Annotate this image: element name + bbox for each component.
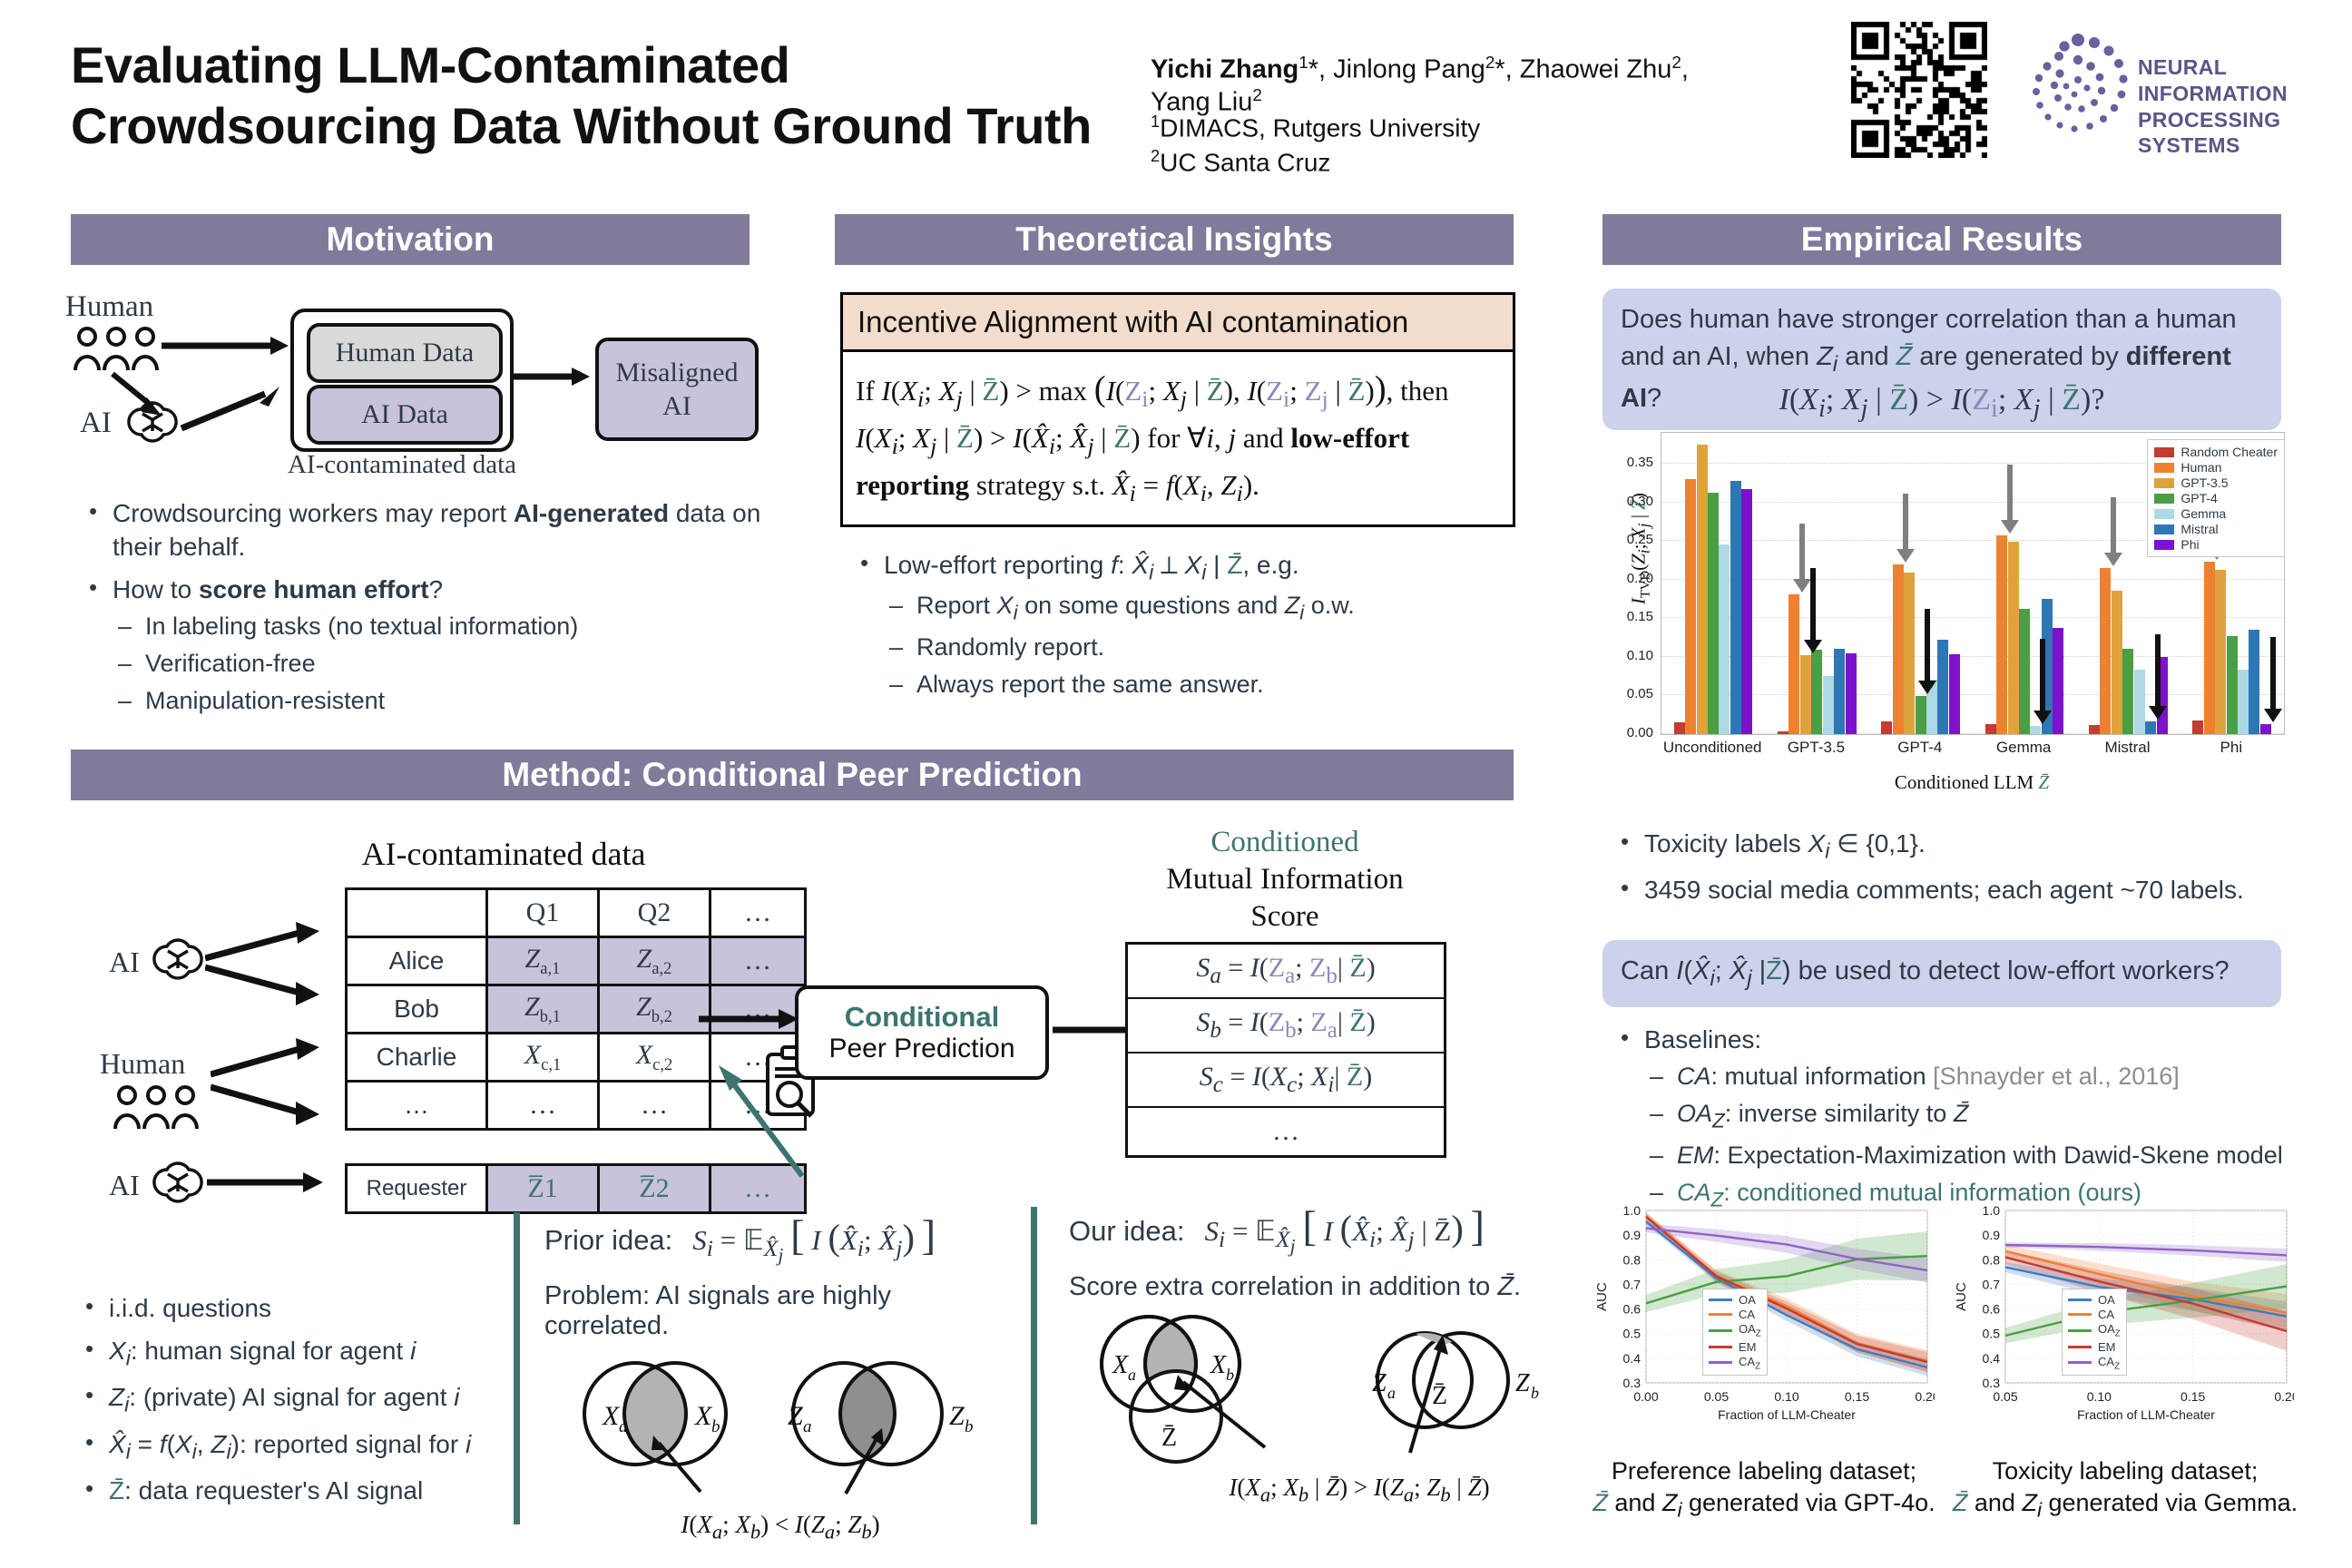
legend-item: EM bbox=[1709, 1340, 1761, 1354]
table-row-name: Alice bbox=[347, 937, 487, 985]
x-tick-label: GPT-3.5 bbox=[1764, 739, 1867, 757]
svg-text:X: X bbox=[1210, 1351, 1227, 1379]
arrow-human-to-data bbox=[162, 336, 289, 356]
ai-source-label: AI bbox=[80, 407, 112, 440]
table-cell: Xc,1 bbox=[487, 1034, 599, 1082]
low-effort-examples: Report Xi on some questions and Zi o.w.R… bbox=[884, 590, 1524, 701]
bar bbox=[1904, 573, 1915, 734]
y-tick-label: 0.8 bbox=[1623, 1252, 1641, 1267]
bar bbox=[1697, 445, 1708, 734]
legend-swatch bbox=[2068, 1361, 2092, 1364]
gray-down-arrow-icon bbox=[2000, 465, 2020, 534]
table-cell: Zb,2 bbox=[599, 985, 710, 1034]
prior-idea-relation: I(Xa; Xb) < I(Za; Zb) bbox=[544, 1511, 1016, 1543]
bar bbox=[1788, 594, 1799, 734]
theorem-title: Incentive Alignment with AI contaminatio… bbox=[843, 295, 1513, 352]
table-row-name: Bob bbox=[347, 985, 487, 1034]
bar bbox=[2215, 570, 2226, 734]
y-tick-label: 0.5 bbox=[1623, 1327, 1641, 1341]
legend-swatch bbox=[2154, 463, 2174, 473]
bar bbox=[1685, 479, 1696, 734]
legend-label: Phi bbox=[2180, 537, 2199, 552]
legend-label: Mistral bbox=[2180, 522, 2218, 536]
score-title-line2: Mutual Information bbox=[1103, 861, 1466, 898]
bar bbox=[1823, 676, 1834, 734]
legend-label: EM bbox=[2098, 1340, 2116, 1354]
score-row: Sb = I(Zb; Za| Z̄) bbox=[1128, 999, 1444, 1053]
y-tick-label: 0.6 bbox=[1623, 1302, 1641, 1317]
legend-label: CA bbox=[1739, 1308, 1755, 1321]
legend-item: CA bbox=[2068, 1308, 2121, 1321]
score-row: Sc = I(Xc; Xi| Z̄) bbox=[1128, 1053, 1444, 1108]
empirical-bullets-1: Toxicity labels Xi ∈ {0,1}.3459 social m… bbox=[1613, 828, 2285, 916]
auc-chart-toxicity: 0.30.40.50.60.70.80.91.00.050.100.150.20… bbox=[1953, 1203, 2294, 1430]
legend-item: Random Cheater bbox=[2154, 445, 2278, 459]
y-tick-label: 0.6 bbox=[1983, 1302, 2001, 1317]
y-tick-label: 0.4 bbox=[1983, 1351, 2001, 1366]
legend-label: OAZ bbox=[1739, 1322, 1761, 1339]
legend-item: Mistral bbox=[2154, 522, 2278, 536]
bar bbox=[2112, 591, 2122, 734]
baselines-bullet: Baselines: CA: mutual information [Shnay… bbox=[1613, 1024, 2285, 1212]
conditional-peer-prediction-box: Conditional Peer Prediction bbox=[795, 985, 1049, 1080]
legend-swatch bbox=[2154, 478, 2174, 488]
legend-swatch bbox=[1709, 1329, 1732, 1332]
our-idea-block: Our idea: Si = 𝔼X̂j [ I (X̂i; X̂j | Z̄) … bbox=[1069, 1203, 1577, 1507]
svg-text:Z̄: Z̄ bbox=[1432, 1382, 1447, 1410]
bar bbox=[2227, 636, 2238, 734]
svg-text:b: b bbox=[965, 1417, 974, 1436]
x-tick-label: 0.20 bbox=[2274, 1389, 2294, 1404]
legend-swatch bbox=[2068, 1313, 2092, 1316]
motivation-sub-item: Manipulation-resistent bbox=[113, 685, 771, 717]
legend-item: OAZ bbox=[1709, 1322, 1761, 1339]
y-tick-label: 0.10 bbox=[1602, 648, 1653, 663]
motivation-sub-item: Verification-free bbox=[113, 648, 771, 680]
bar bbox=[2053, 628, 2063, 734]
empirical-question-1-formula: I(Xi; Xj | Z̄) > I(Zi; Xj | Z̄)? bbox=[1602, 383, 2281, 424]
y-tick-label: 0.30 bbox=[1602, 494, 1653, 509]
bar bbox=[2019, 609, 2030, 734]
notation-item: Z̄: data requester's AI signal bbox=[78, 1475, 550, 1508]
table-cell: … bbox=[710, 937, 806, 985]
table-cell: Za,1 bbox=[487, 937, 599, 985]
people-icon bbox=[69, 325, 169, 372]
bar bbox=[1741, 489, 1752, 734]
notation-item: Zi: (private) AI signal for agent i bbox=[78, 1381, 550, 1418]
svg-text:b: b bbox=[1531, 1384, 1539, 1402]
legend-swatch bbox=[2154, 524, 2174, 534]
svg-text:a: a bbox=[619, 1417, 628, 1436]
legend-item: GPT-4 bbox=[2154, 491, 2278, 505]
requester-cell: Z̅1 bbox=[487, 1165, 599, 1213]
black-down-arrow-icon bbox=[2033, 639, 2053, 724]
source-ai-bottom-label: AI bbox=[109, 1169, 140, 1202]
legend-item: CAZ bbox=[2068, 1355, 2121, 1372]
legend-item: CAZ bbox=[1709, 1355, 1761, 1372]
bar bbox=[1708, 493, 1719, 734]
bar bbox=[2192, 720, 2203, 734]
score-title-line3: Score bbox=[1103, 898, 1466, 936]
baselines-block: Baselines: CA: mutual information [Shnay… bbox=[1613, 1024, 2285, 1221]
motivation-diagram: Human AI Human Data AI Data AI-contamina… bbox=[54, 290, 771, 472]
legend-label: GPT-3.5 bbox=[2180, 475, 2228, 490]
x-tick-label: Mistral bbox=[2075, 739, 2179, 757]
our-idea-venn: Xa Xb Z̄ Za Zb Z̄ bbox=[1069, 1308, 1570, 1476]
score-title-line1: Conditioned bbox=[1103, 824, 1466, 861]
contaminated-data-caption: AI-contaminated data bbox=[270, 450, 534, 480]
prior-idea-label: Prior idea: bbox=[544, 1224, 672, 1257]
legend-label: OA bbox=[2098, 1293, 2115, 1307]
auc-legend: OACAOAZEMCAZ bbox=[2062, 1289, 2127, 1376]
y-tick-label: 0.9 bbox=[1623, 1228, 1641, 1242]
auc-legend: OACAOAZEMCAZ bbox=[1702, 1289, 1768, 1376]
bar bbox=[2134, 670, 2145, 734]
method-banner: Method: Conditional Peer Prediction bbox=[71, 750, 1514, 800]
table-cell: Za,2 bbox=[599, 937, 710, 985]
bar bbox=[1834, 649, 1845, 734]
y-axis-label: AUC bbox=[1954, 1282, 1969, 1311]
svg-text:Z: Z bbox=[949, 1401, 965, 1431]
bar bbox=[2089, 725, 2100, 734]
black-down-arrow-icon bbox=[1917, 609, 1937, 694]
divider-left bbox=[514, 1212, 520, 1524]
y-tick-label: 0.3 bbox=[1983, 1376, 2001, 1390]
gridline bbox=[1661, 617, 2284, 618]
motivation-bullet: Crowdsourcing workers may report AI-gene… bbox=[82, 497, 771, 564]
bar-chart-legend: Random CheaterHumanGPT-3.5GPT-4GemmaMist… bbox=[2147, 439, 2285, 557]
black-down-arrow-icon bbox=[1803, 568, 1823, 653]
low-effort-example: Randomly report. bbox=[884, 632, 1524, 663]
cpp-title-line2: Peer Prediction bbox=[799, 1034, 1045, 1064]
svg-text:a: a bbox=[1128, 1366, 1136, 1384]
y-tick-label: 1.0 bbox=[1983, 1203, 2001, 1218]
x-tick-label: Phi bbox=[2180, 739, 2283, 757]
legend-label: Gemma bbox=[2180, 506, 2226, 521]
gridline bbox=[1661, 694, 2284, 695]
bar bbox=[2008, 542, 2019, 734]
table-header-row: Q1Q2… bbox=[347, 889, 806, 937]
y-tick-label: 0.05 bbox=[1602, 686, 1653, 701]
our-idea-label: Our idea: bbox=[1069, 1215, 1185, 1248]
legend-item: CA bbox=[1709, 1308, 1761, 1321]
legend-item: EM bbox=[2068, 1340, 2121, 1354]
y-tick-label: 0.9 bbox=[1983, 1228, 2001, 1242]
gridline bbox=[1661, 733, 2284, 734]
legend-label: CAZ bbox=[1739, 1355, 1760, 1372]
prior-idea-problem: Problem: AI signals are highly correlate… bbox=[544, 1281, 1016, 1341]
gray-down-arrow-icon bbox=[1896, 494, 1916, 563]
y-tick-label: 0.7 bbox=[1623, 1277, 1641, 1291]
contaminated-data-container: Human Data AI Data bbox=[290, 309, 514, 452]
table-row: AliceZa,1Za,2… bbox=[347, 937, 806, 985]
neurips-dots-icon bbox=[2024, 31, 2132, 140]
legend-label: Human bbox=[2180, 460, 2221, 475]
human-data-box: Human Data bbox=[307, 323, 503, 383]
people-icon bbox=[109, 1083, 209, 1131]
gridline bbox=[1661, 579, 2284, 580]
x-tick-label: 0.10 bbox=[2087, 1389, 2112, 1404]
requester-label: Requester bbox=[347, 1165, 487, 1213]
bar bbox=[2260, 724, 2271, 734]
score-title: Conditioned Mutual Information Score bbox=[1103, 824, 1466, 936]
y-tick-label: 0.3 bbox=[1623, 1376, 1641, 1390]
svg-text:Z: Z bbox=[1372, 1369, 1387, 1397]
bar bbox=[1800, 655, 1811, 734]
legend-item: OA bbox=[2068, 1293, 2121, 1307]
theorem-statement: If I(Xi; Xj | Z̄) > max (I(Zi; Xj | Z̄),… bbox=[843, 352, 1513, 524]
table-header-cell: Q1 bbox=[487, 889, 599, 937]
openai-icon bbox=[152, 935, 203, 985]
x-tick-label: 0.15 bbox=[2180, 1389, 2205, 1404]
x-tick-label: 0.05 bbox=[1993, 1389, 2017, 1404]
table-row-name: … bbox=[347, 1082, 487, 1130]
notation-item: Xi: human signal for agent i bbox=[78, 1335, 550, 1372]
method-sources: AI Human AI bbox=[109, 926, 345, 1207]
arrow-human-to-ai bbox=[109, 370, 172, 421]
notation-item: i.i.d. questions bbox=[78, 1292, 550, 1326]
y-tick-label: 0.20 bbox=[1602, 571, 1653, 586]
cpp-title-line1: Conditional bbox=[799, 1001, 1045, 1034]
legend-swatch bbox=[2154, 540, 2174, 550]
empirical-bullet: Toxicity labels Xi ∈ {0,1}. bbox=[1613, 828, 2285, 865]
y-tick-label: 0.8 bbox=[1983, 1252, 2001, 1267]
legend-item: Human bbox=[2154, 460, 2278, 475]
legend-item: Gemma bbox=[2154, 506, 2278, 521]
gray-down-arrow-icon bbox=[2103, 497, 2123, 566]
x-axis-label: Fraction of LLM-Cheater bbox=[2077, 1407, 2215, 1422]
score-row: Sa = I(Za; Zb| Z̄) bbox=[1128, 945, 1444, 999]
baseline-item: EM: Expectation-Maximization with Dawid-… bbox=[1644, 1140, 2285, 1171]
motivation-bullets: Crowdsourcing workers may report AI-gene… bbox=[82, 497, 771, 726]
motivation-bullet: How to score human effort?In labeling ta… bbox=[82, 573, 771, 717]
svg-text:X: X bbox=[602, 1401, 621, 1431]
black-down-arrow-icon bbox=[2263, 637, 2283, 722]
y-tick-label: 1.0 bbox=[1623, 1203, 1641, 1218]
y-tick-label: 0.7 bbox=[1983, 1277, 2001, 1291]
svg-text:a: a bbox=[803, 1417, 812, 1436]
qr-code[interactable] bbox=[1851, 22, 1987, 158]
x-tick-label: 0.10 bbox=[1774, 1389, 1798, 1404]
arrow-human-to-charlie bbox=[211, 1034, 321, 1085]
legend-swatch bbox=[2154, 494, 2174, 504]
ai-data-box: AI Data bbox=[307, 385, 503, 445]
score-table: Sa = I(Za; Zb| Z̄)Sb = I(Zb; Za| Z̄)Sc =… bbox=[1125, 942, 1446, 1158]
x-tick-label: 0.15 bbox=[1845, 1389, 1869, 1404]
divider-right bbox=[1031, 1207, 1037, 1524]
theory-banner: Theoretical Insights bbox=[835, 214, 1514, 265]
legend-item: Phi bbox=[2154, 537, 2278, 552]
misaligned-ai-box: Misaligned AI bbox=[595, 338, 759, 441]
x-tick-label: 0.20 bbox=[1915, 1389, 1935, 1404]
legend-label: OAZ bbox=[2098, 1322, 2121, 1339]
bar bbox=[1719, 544, 1730, 734]
page-title: Evaluating LLM-Contaminated Crowdsourcin… bbox=[71, 34, 1142, 156]
svg-text:Z̄: Z̄ bbox=[1161, 1424, 1177, 1452]
svg-text:X: X bbox=[694, 1401, 713, 1431]
legend-label: CAZ bbox=[2098, 1355, 2120, 1372]
baseline-item: CA: mutual information [Shnayder et al.,… bbox=[1644, 1061, 2285, 1093]
legend-label: GPT-4 bbox=[2180, 491, 2217, 505]
legend-swatch bbox=[1709, 1298, 1732, 1301]
human-source-label: Human bbox=[65, 290, 153, 324]
table-header-cell: Q2 bbox=[599, 889, 710, 937]
legend-swatch bbox=[2154, 509, 2174, 519]
bar bbox=[2122, 649, 2133, 734]
empirical-question-2: Can I(X̂i; X̂j |Z̄) be used to detect lo… bbox=[1602, 940, 2281, 1007]
prior-idea-formula: Si = 𝔼X̂j [ I (X̂i; X̂j) ] bbox=[692, 1212, 936, 1267]
legend-swatch bbox=[2154, 447, 2174, 457]
svg-text:X: X bbox=[1112, 1351, 1129, 1379]
bar bbox=[2145, 721, 2156, 734]
bar bbox=[1916, 696, 1926, 734]
requester-cell: Z̅2 bbox=[599, 1165, 710, 1213]
bar bbox=[1811, 650, 1822, 734]
legend-item: OAZ bbox=[2068, 1322, 2121, 1339]
legend-swatch bbox=[1709, 1313, 1732, 1316]
legend-swatch bbox=[2068, 1298, 2092, 1301]
legend-label: Random Cheater bbox=[2180, 445, 2278, 459]
x-tick-label: Unconditioned bbox=[1661, 739, 1764, 757]
method-notation: i.i.d. questionsXi: human signal for age… bbox=[78, 1292, 550, 1517]
low-effort-example: Report Xi on some questions and Zi o.w. bbox=[884, 590, 1524, 626]
svg-text:b: b bbox=[711, 1417, 720, 1436]
black-down-arrow-icon bbox=[2148, 634, 2168, 720]
theory-bullets: Low-effort reporting f: X̂i ⟂ Xi | Z̄, e… bbox=[853, 549, 1524, 710]
author-list: Yichi Zhang1*, Jinlong Pang2*, Zhaowei Z… bbox=[1151, 53, 1713, 117]
arrow-ai-to-bob bbox=[205, 960, 321, 1011]
y-tick-label: 0.5 bbox=[1983, 1327, 2001, 1341]
table-cell: … bbox=[487, 1082, 599, 1130]
motivation-sub-list: In labeling tasks (no textual informatio… bbox=[113, 611, 771, 717]
notation-item: X̂i = f(Xi, Zi): reported signal for i bbox=[78, 1428, 550, 1465]
table-row-name: Charlie bbox=[347, 1034, 487, 1082]
bar bbox=[1730, 481, 1741, 734]
bar-chart: ITVD(Zi; Xj | Z̄) 0.000.050.100.150.200.… bbox=[1602, 426, 2292, 808]
our-idea-note: Score extra correlation in addition to Z… bbox=[1069, 1272, 1577, 1302]
legend-swatch bbox=[1709, 1361, 1732, 1364]
neurips-logo-text: NEURAL INFORMATION PROCESSING SYSTEMS bbox=[2138, 54, 2323, 159]
legend-label: OA bbox=[1739, 1293, 1756, 1307]
openai-icon bbox=[152, 1158, 203, 1209]
method-table-title: AI-contaminated data bbox=[299, 835, 708, 873]
arrow-ai-to-data bbox=[178, 385, 287, 434]
table-cell: Zb,1 bbox=[487, 985, 599, 1034]
bar-chart-xlabel: Conditioned LLM Z̄ bbox=[1661, 771, 2283, 794]
low-effort-example: Always report the same answer. bbox=[884, 669, 1524, 701]
bar bbox=[1949, 654, 1960, 734]
legend-swatch bbox=[1709, 1346, 1732, 1348]
y-tick-label: 0.15 bbox=[1602, 609, 1653, 624]
bar bbox=[2204, 562, 2215, 734]
prior-idea-block: Prior idea: Si = 𝔼X̂j [ I (X̂i; X̂j) ] P… bbox=[544, 1212, 1016, 1544]
table-cell: Xc,2 bbox=[599, 1034, 710, 1082]
legend-swatch bbox=[2068, 1329, 2092, 1332]
svg-text:a: a bbox=[1387, 1384, 1396, 1402]
neurips-logo: NEURAL INFORMATION PROCESSING SYSTEMS bbox=[2024, 27, 2323, 145]
auc-caption-toxicity: Toxicity labeling dataset;Z̄ and Zi gene… bbox=[1944, 1455, 2307, 1524]
our-idea-formula: Si = 𝔼X̂j [ I (X̂i; X̂j | Z̄) ] bbox=[1205, 1203, 1485, 1258]
bar bbox=[2238, 670, 2249, 735]
auc-caption-preference: Preference labeling dataset;Z̄ and Zi ge… bbox=[1584, 1455, 1944, 1524]
x-tick-label: 0.05 bbox=[1704, 1389, 1729, 1404]
bar bbox=[2249, 630, 2259, 734]
legend-swatch bbox=[2068, 1346, 2092, 1348]
arrow-ai-to-requester bbox=[207, 1171, 323, 1194]
baseline-item: OAZ: inverse similarity to Z̄ bbox=[1644, 1098, 2285, 1134]
low-effort-bullet: Low-effort reporting f: X̂i ⟂ Xi | Z̄, e… bbox=[853, 549, 1524, 701]
empirical-banner: Empirical Results bbox=[1602, 214, 2281, 265]
legend-label: CA bbox=[2098, 1308, 2114, 1321]
affiliation-list: 1DIMACS, Rutgers University2UC Santa Cru… bbox=[1151, 111, 1713, 179]
arrow-data-to-output bbox=[512, 367, 590, 387]
bar bbox=[2030, 726, 2041, 734]
table-cell: … bbox=[599, 1082, 710, 1130]
y-tick-label: 0.35 bbox=[1602, 455, 1653, 470]
legend-item: GPT-3.5 bbox=[2154, 475, 2278, 490]
prior-idea-venn: Xa Xb Za Zb bbox=[544, 1348, 1009, 1512]
legend-item: OA bbox=[1709, 1293, 1761, 1307]
bar bbox=[1985, 724, 1996, 734]
bar bbox=[1674, 722, 1685, 734]
legend-label: EM bbox=[1739, 1340, 1757, 1354]
bar bbox=[2100, 568, 2111, 734]
source-human-label: Human bbox=[100, 1047, 185, 1081]
bar bbox=[1846, 653, 1857, 734]
x-axis-label: Fraction of LLM-Cheater bbox=[1718, 1407, 1856, 1422]
bar bbox=[1893, 564, 1904, 734]
y-tick-label: 0.4 bbox=[1623, 1351, 1641, 1366]
y-tick-label: 0.00 bbox=[1602, 725, 1653, 740]
y-axis-label: AUC bbox=[1594, 1282, 1610, 1311]
bar-chart-yaxis: 0.000.050.100.150.200.250.300.35 bbox=[1602, 432, 1655, 733]
table-header-cell: … bbox=[710, 889, 806, 937]
theorem-box: Incentive Alignment with AI contaminatio… bbox=[840, 292, 1515, 527]
svg-text:Z: Z bbox=[788, 1401, 803, 1431]
score-row: … bbox=[1128, 1108, 1444, 1155]
source-ai-top-label: AI bbox=[109, 946, 140, 979]
motivation-sub-item: In labeling tasks (no textual informatio… bbox=[113, 611, 771, 642]
svg-text:b: b bbox=[1226, 1366, 1234, 1384]
auc-chart-preference: 0.30.40.50.60.70.80.91.00.000.050.100.15… bbox=[1593, 1203, 1935, 1430]
svg-text:Z: Z bbox=[1515, 1369, 1530, 1397]
y-tick-label: 0.25 bbox=[1602, 532, 1653, 547]
baseline-list: CA: mutual information [Shnayder et al.,… bbox=[1644, 1061, 2285, 1212]
bar bbox=[1778, 731, 1788, 734]
gridline bbox=[1661, 656, 2284, 657]
our-idea-relation: I(Xa; Xb | Z̄) > I(Za; Zb | Z̄) bbox=[1142, 1474, 1577, 1506]
bar bbox=[1937, 640, 1948, 734]
arrow-table-to-cpp bbox=[699, 1007, 799, 1031]
table-header-cell bbox=[347, 889, 487, 937]
x-tick-label: Gemma bbox=[1972, 739, 2075, 757]
x-tick-label: GPT-4 bbox=[1868, 739, 1972, 757]
x-tick-label: 0.00 bbox=[1633, 1389, 1658, 1404]
arrow-human-to-more bbox=[211, 1082, 321, 1132]
bar bbox=[1881, 721, 1892, 734]
bar bbox=[1996, 535, 2007, 734]
empirical-bullet: 3459 social media comments; each agent ~… bbox=[1613, 874, 2285, 907]
motivation-banner: Motivation bbox=[71, 214, 750, 265]
